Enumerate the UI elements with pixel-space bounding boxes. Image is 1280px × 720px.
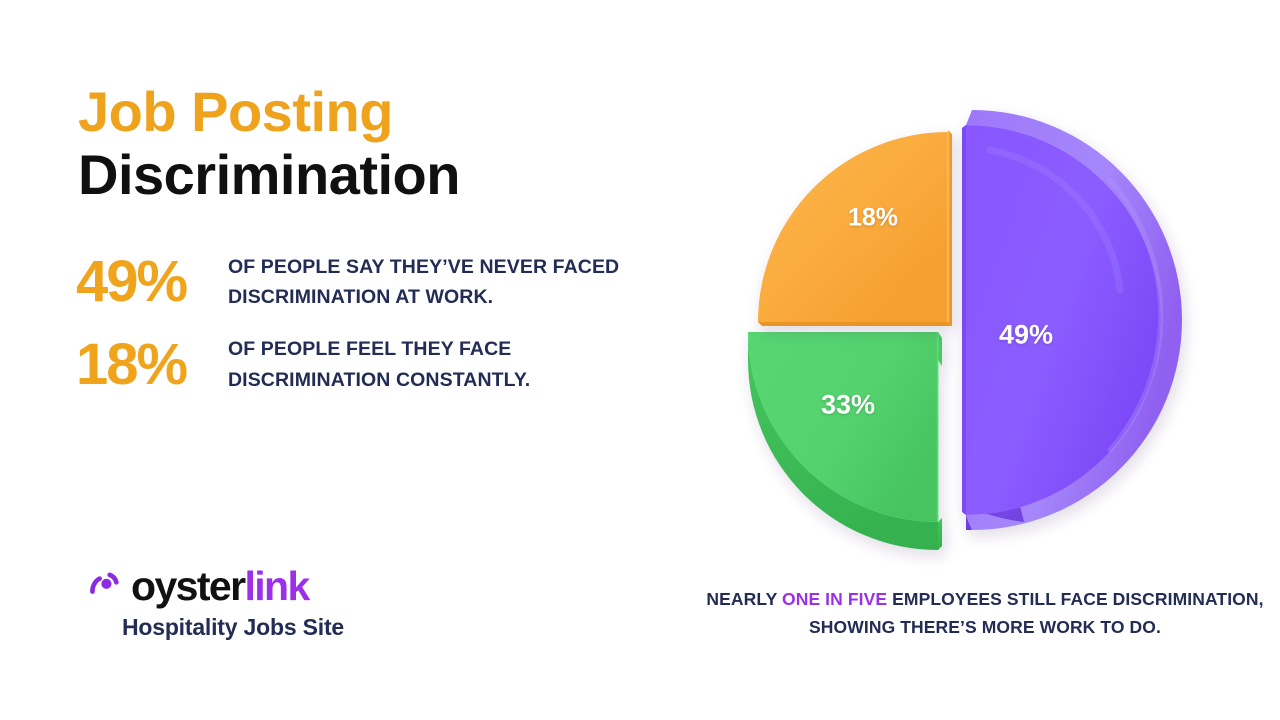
stat-description: OF PEOPLE SAY THEY’VE NEVER FACED DISCRI… xyxy=(228,252,676,312)
page-title: Job Posting Discrimination xyxy=(78,84,460,203)
title-line-primary: Job Posting xyxy=(78,84,460,140)
stat-description: OF PEOPLE FEEL THEY FACE DISCRIMINATION … xyxy=(228,334,676,394)
logo-wordmark: oysterlink xyxy=(88,566,388,607)
left-content-panel: Job Posting Discrimination 49% OF PEOPLE… xyxy=(0,0,690,720)
pie-slice-green xyxy=(748,332,942,550)
logo-tagline: Hospitality Jobs Site xyxy=(88,614,378,641)
brand-logo[interactable]: oysterlink Hospitality Jobs Site xyxy=(88,566,388,641)
oyster-pearl-icon xyxy=(88,569,124,605)
chart-panel: 49% 33% 18% NEARLY ONE IN FIVE EMPLOYEES… xyxy=(690,0,1280,720)
pie-chart-svg xyxy=(690,60,1280,580)
caption-prefix: NEARLY xyxy=(706,589,782,609)
logo-text-link: link xyxy=(244,563,308,609)
logo-text: oysterlink xyxy=(131,566,309,607)
pie-label-33: 33% xyxy=(821,390,875,421)
stat-item: 18% OF PEOPLE FEEL THEY FACE DISCRIMINAT… xyxy=(76,334,676,394)
stat-value: 49% xyxy=(76,253,228,311)
caption-highlight: ONE IN FIVE xyxy=(782,589,887,609)
statistics-list: 49% OF PEOPLE SAY THEY’VE NEVER FACED DI… xyxy=(76,252,676,417)
stat-value: 18% xyxy=(76,336,228,394)
pie-label-49: 49% xyxy=(999,320,1053,351)
stat-item: 49% OF PEOPLE SAY THEY’VE NEVER FACED DI… xyxy=(76,252,676,312)
pie-label-18: 18% xyxy=(848,204,898,233)
infographic-canvas: Job Posting Discrimination 49% OF PEOPLE… xyxy=(0,0,1280,720)
title-line-secondary: Discrimination xyxy=(78,147,460,203)
pie-slice-purple xyxy=(962,110,1182,530)
logo-text-oyster: oyster xyxy=(131,563,244,609)
chart-caption: NEARLY ONE IN FIVE EMPLOYEES STILL FACE … xyxy=(690,585,1280,641)
pie-chart: 49% 33% 18% xyxy=(690,60,1280,580)
